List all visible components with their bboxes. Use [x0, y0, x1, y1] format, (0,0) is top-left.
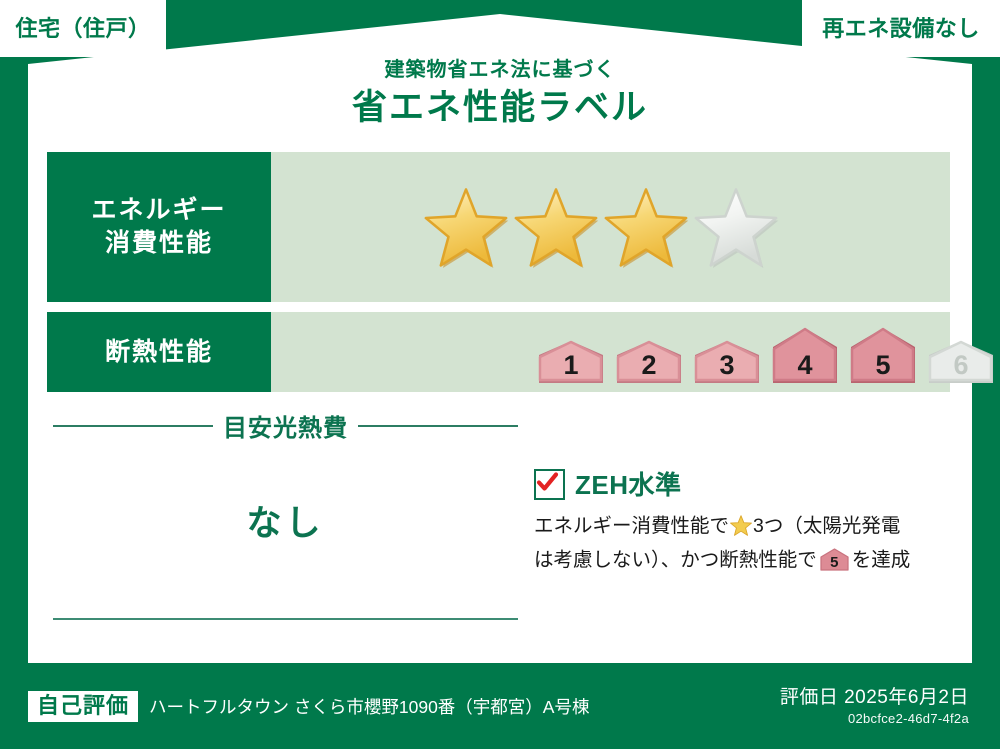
zeh-description: エネルギー消費性能で 3つ（太陽光発電 は考慮しない）、かつ断熱性能で 5 を達…	[534, 511, 954, 575]
evaluation-date: 評価日 2025年6月2日	[780, 686, 969, 710]
zeh-title: ZEH水準	[575, 472, 682, 498]
insulation-level-number: 4	[768, 352, 842, 379]
property-name: ハートフルタウン さくら市櫻野1090番（宇都宮）A号棟	[149, 694, 589, 719]
footer-bar: 自己評価 ハートフルタウン さくら市櫻野1090番（宇都宮）A号棟 評価日 20…	[0, 663, 1000, 749]
star-icon-empty	[693, 186, 779, 268]
checkmark-icon	[534, 469, 565, 500]
row-insulation-label: 断熱性能	[47, 312, 271, 392]
zeh-desc-stars: 3つ（太陽光発電	[753, 515, 900, 537]
insulation-level-3: 3	[690, 338, 764, 385]
insulation-rating-scale: 1234567	[271, 312, 1000, 392]
footer-right: 評価日 2025年6月2日 02bcfce2-46d7-4f2a	[780, 686, 969, 727]
badge-house-type: 住宅（住戸）	[0, 0, 166, 57]
utility-cost-header: 目安光熱費	[53, 408, 518, 443]
row-energy-label-line1: エネルギー	[91, 194, 226, 227]
star-rating	[271, 152, 950, 302]
house-level-icon-inline: 5	[820, 548, 849, 571]
star-icon-inline	[730, 515, 752, 545]
row-energy-label: エネルギー 消費性能	[47, 152, 271, 302]
badge-renewable-text: 再エネ設備なし	[822, 18, 980, 40]
insulation-level-1: 1	[534, 338, 608, 385]
star-icon-filled	[603, 186, 689, 268]
insulation-level-2: 2	[612, 338, 686, 385]
cost-rule-left	[53, 425, 213, 427]
row-energy-performance: エネルギー 消費性能	[47, 152, 950, 302]
utility-cost-bottom-rule	[53, 618, 518, 620]
zeh-desc-part1: エネルギー消費性能で	[534, 515, 729, 537]
star-icon-filled	[423, 186, 509, 268]
insulation-level-6: 6	[924, 338, 998, 385]
insulation-level-number: 6	[924, 352, 998, 379]
zeh-header: ZEH水準	[534, 469, 954, 500]
row-energy-label-line2: 消費性能	[105, 227, 213, 260]
self-evaluation-badge: 自己評価	[28, 691, 138, 722]
house-level-number: 5	[820, 555, 849, 570]
insulation-level-4: 4	[768, 325, 842, 385]
zeh-desc-part3: を達成	[852, 549, 911, 571]
badge-renewable-equipment: 再エネ設備なし	[802, 0, 1000, 57]
utility-cost-section: 目安光熱費 なし	[53, 408, 518, 546]
star-icon-filled	[513, 186, 599, 268]
insulation-level-number: 3	[690, 352, 764, 379]
cost-rule-right	[358, 425, 518, 427]
energy-performance-label: 住宅（住戸） 再エネ設備なし 建築物省エネ法に基づく 省エネ性能ラベル エネルギ…	[0, 0, 1000, 749]
insulation-level-5: 5	[846, 325, 920, 385]
badge-house-type-text: 住宅（住戸）	[15, 18, 150, 40]
page-title: 省エネ性能ラベル	[0, 87, 1000, 129]
utility-cost-value: なし	[53, 495, 518, 546]
footer-left: 自己評価 ハートフルタウン さくら市櫻野1090番（宇都宮）A号棟	[28, 691, 589, 722]
zeh-desc-part2: は考慮しない）、かつ断熱性能で	[534, 549, 817, 571]
insulation-level-number: 1	[534, 352, 608, 379]
title-block: 建築物省エネ法に基づく 省エネ性能ラベル	[0, 58, 1000, 129]
utility-cost-title: 目安光熱費	[223, 408, 348, 443]
insulation-level-number: 2	[612, 352, 686, 379]
insulation-level-number: 5	[846, 352, 920, 379]
zeh-section: ZEH水準 エネルギー消費性能で 3つ（太陽光発電 は考慮しない）、かつ断熱性能…	[534, 469, 954, 575]
title-subtitle: 建築物省エネ法に基づく	[0, 58, 1000, 82]
row-insulation-performance: 断熱性能 1234567	[47, 312, 950, 392]
evaluation-id: 02bcfce2-46d7-4f2a	[780, 711, 969, 726]
